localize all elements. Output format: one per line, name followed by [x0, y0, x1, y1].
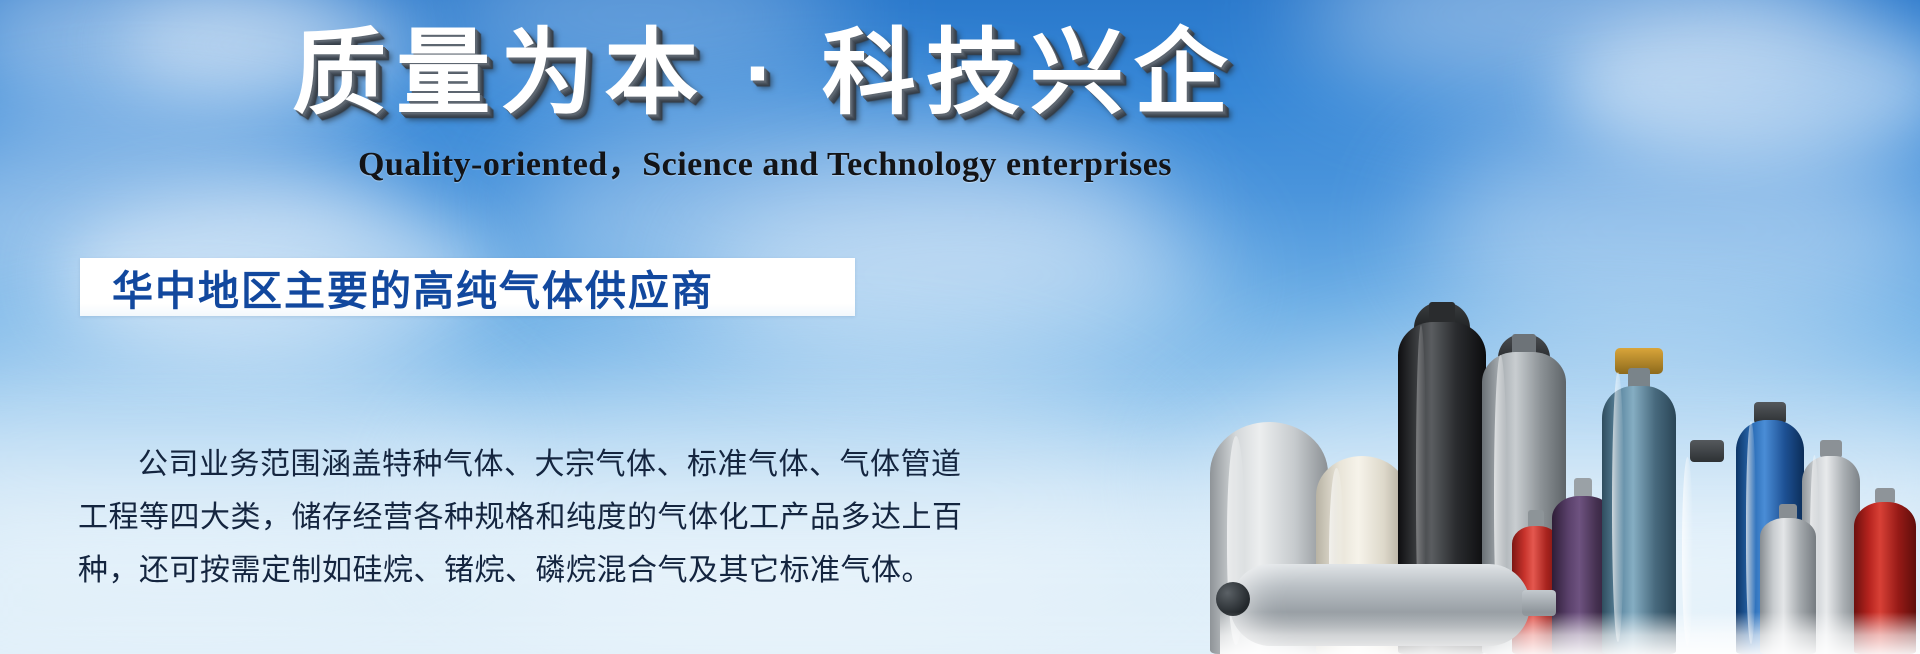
banner-subtitle-english: Quality-oriented，Science and Technology …: [0, 136, 1530, 185]
photo-base-fade: [1220, 612, 1920, 654]
promo-banner: 质量为本 · 科技兴企 Quality-oriented，Science and…: [0, 0, 1920, 654]
tank-valve-knob-icon: [1216, 582, 1250, 616]
teal-valve-cylinder-image: [1602, 354, 1676, 654]
paragraph-line: 公司业务范围涵盖特种气体、大宗气体、标准气体、气体管道: [78, 438, 878, 491]
tagline-text: 华中地区主要的高纯气体供应商: [80, 257, 714, 317]
tagline-box: 华中地区主要的高纯气体供应商: [80, 258, 855, 316]
paragraph-line: 种，还可按需定制如硅烷、锗烷、磷烷混合气及其它标准气体。: [78, 544, 878, 597]
cloud-decoration: [430, 0, 850, 80]
description-paragraph: 公司业务范围涵盖特种气体、大宗气体、标准气体、气体管道 工程等四大类，储存经营各…: [78, 438, 878, 597]
gas-cylinder-collage: [1220, 234, 1920, 654]
paragraph-line: 工程等四大类，储存经营各种规格和纯度的气体化工产品多达上百: [78, 491, 878, 544]
